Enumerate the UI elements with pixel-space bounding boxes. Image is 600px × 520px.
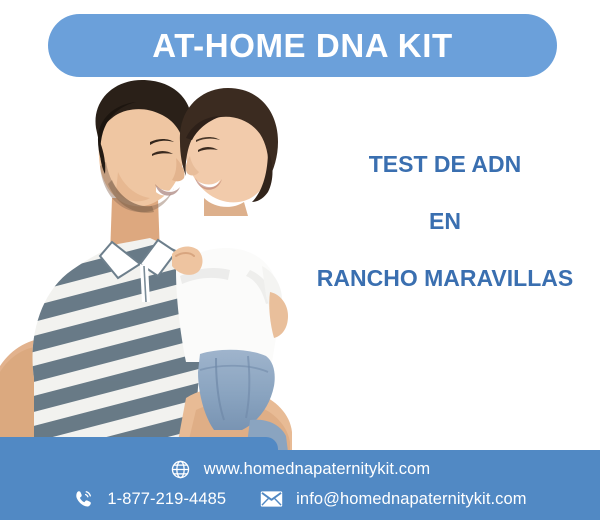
footer-row-phone-email: 1-877-219-4485 info@homednapaternitykit.… xyxy=(73,489,526,510)
phone-icon xyxy=(73,489,94,510)
email-address: info@homednapaternitykit.com xyxy=(296,490,527,509)
globe-icon xyxy=(170,459,191,480)
footer-bar: www.homednapaternitykit.com 1-877-219-44… xyxy=(0,437,600,520)
website-url: www.homednapaternitykit.com xyxy=(204,460,430,479)
phone-contact[interactable]: 1-877-219-4485 xyxy=(73,489,226,510)
father-and-child-photo xyxy=(0,80,310,452)
location-info-block: TEST DE ADN EN RANCHO MARAVILLAS xyxy=(300,152,590,290)
footer-content: www.homednapaternitykit.com 1-877-219-44… xyxy=(0,437,600,520)
poster-canvas: AT-HOME DNA KIT xyxy=(0,0,600,520)
email-contact[interactable]: info@homednapaternitykit.com xyxy=(260,490,527,509)
header-banner: AT-HOME DNA KIT xyxy=(48,14,557,77)
service-title: TEST DE ADN xyxy=(300,152,590,176)
preposition-label: EN xyxy=(300,209,590,233)
envelope-icon xyxy=(260,490,283,508)
footer-row-website: www.homednapaternitykit.com xyxy=(170,459,430,480)
phone-number: 1-877-219-4485 xyxy=(107,490,226,509)
location-name: RANCHO MARAVILLAS xyxy=(300,266,590,290)
website-contact[interactable]: www.homednapaternitykit.com xyxy=(170,459,430,480)
page-title: AT-HOME DNA KIT xyxy=(152,29,452,62)
